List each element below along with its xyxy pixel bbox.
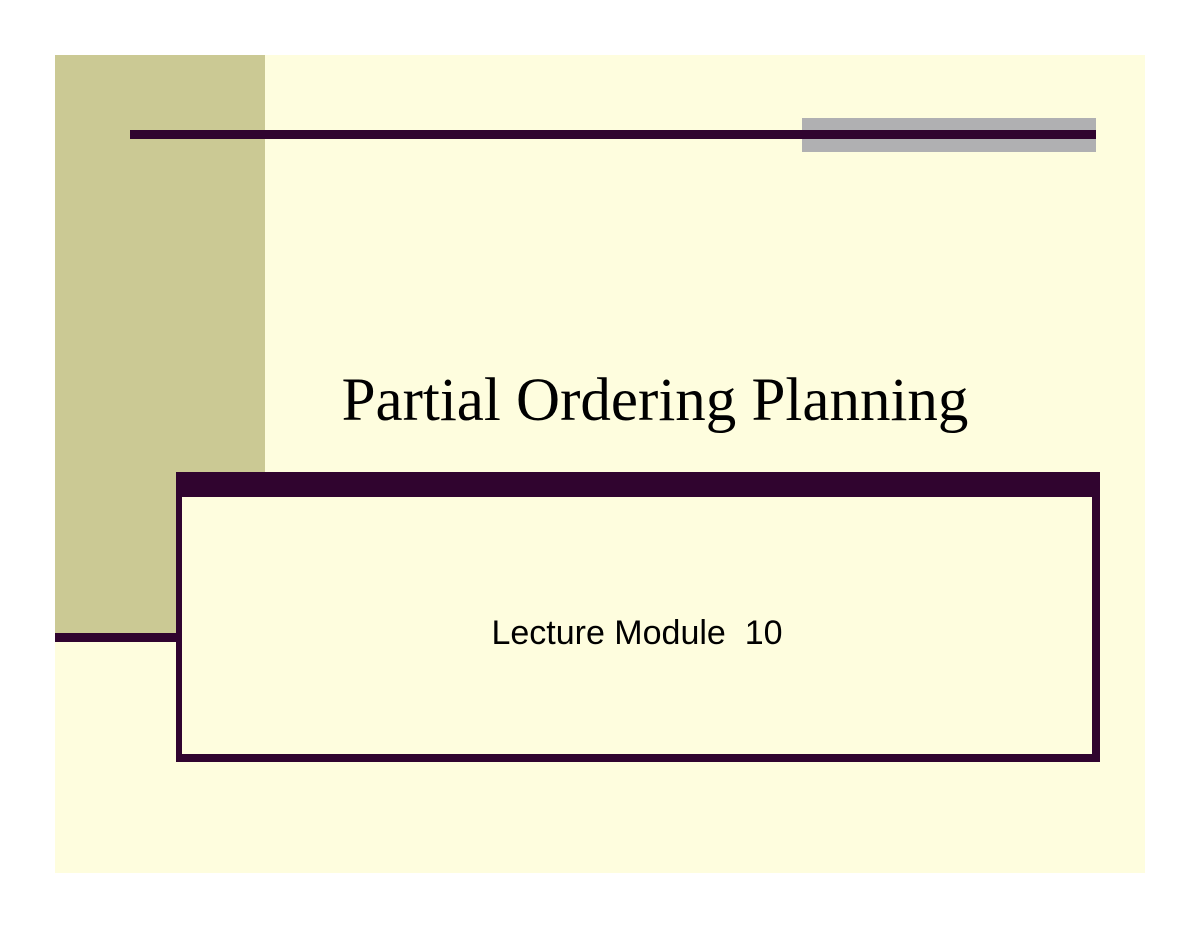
subtitle-content-box: Lecture Module 10	[176, 472, 1100, 762]
subtitle-text: Lecture Module 10	[182, 614, 1092, 653]
presentation-slide: Partial Ordering Planning Lecture Module…	[55, 55, 1145, 873]
sidebar-bottom-rule	[55, 633, 177, 642]
slide-title: Partial Ordering Planning	[175, 369, 1135, 433]
header-rule-over-gray-block	[802, 130, 1096, 139]
